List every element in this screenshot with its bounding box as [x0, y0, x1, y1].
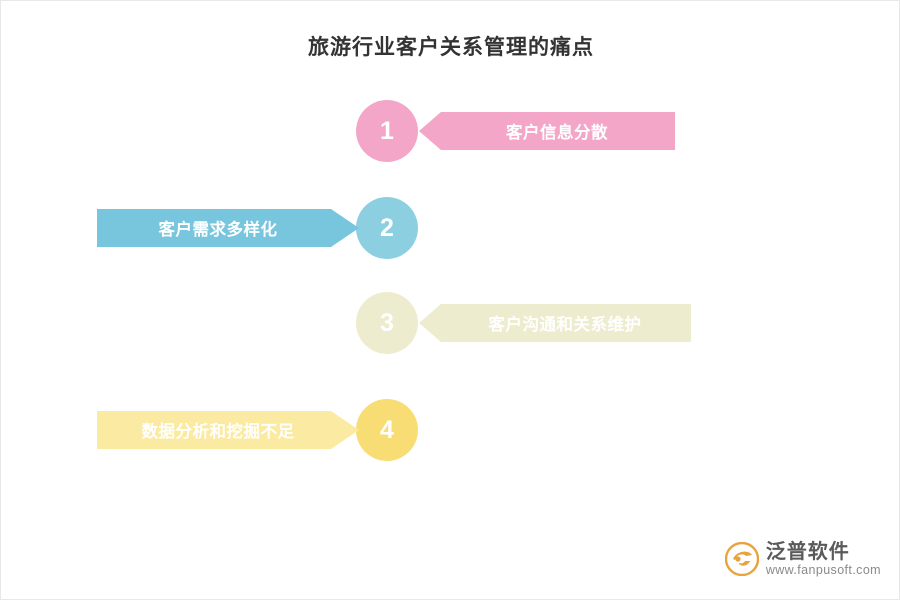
step-number-4: 4	[380, 416, 394, 445]
logo-company-name: 泛普软件	[766, 541, 881, 563]
logo-website-url: www.fanpusoft.com	[766, 563, 881, 577]
step-number-1: 1	[380, 117, 394, 146]
brand-logo: 泛普软件 www.fanpusoft.com	[725, 541, 881, 577]
step-band-1: 客户信息分散	[419, 112, 675, 150]
logo-text: 泛普软件 www.fanpusoft.com	[766, 541, 881, 577]
step-band-3: 客户沟通和关系维护	[419, 304, 691, 342]
step-band-2: 客户需求多样化	[97, 209, 359, 247]
step-number-3: 3	[380, 309, 394, 338]
step-band-4: 数据分析和挖掘不足	[97, 411, 359, 449]
step-label-3: 客户沟通和关系维护	[489, 311, 642, 335]
step-label-2: 客户需求多样化	[159, 216, 278, 240]
step-number-2: 2	[380, 214, 394, 243]
step-circle-1: 1	[356, 100, 418, 162]
logo-mark-icon	[725, 542, 759, 576]
step-circle-2: 2	[356, 197, 418, 259]
step-circle-3: 3	[356, 292, 418, 354]
page-title: 旅游行业客户关系管理的痛点	[1, 31, 900, 61]
step-label-4: 数据分析和挖掘不足	[142, 418, 295, 442]
step-circle-4: 4	[356, 399, 418, 461]
step-label-1: 客户信息分散	[506, 119, 608, 143]
infographic-page: 旅游行业客户关系管理的痛点 1 客户信息分散 2 客户需求多样化 3 客户沟通和…	[0, 0, 900, 600]
